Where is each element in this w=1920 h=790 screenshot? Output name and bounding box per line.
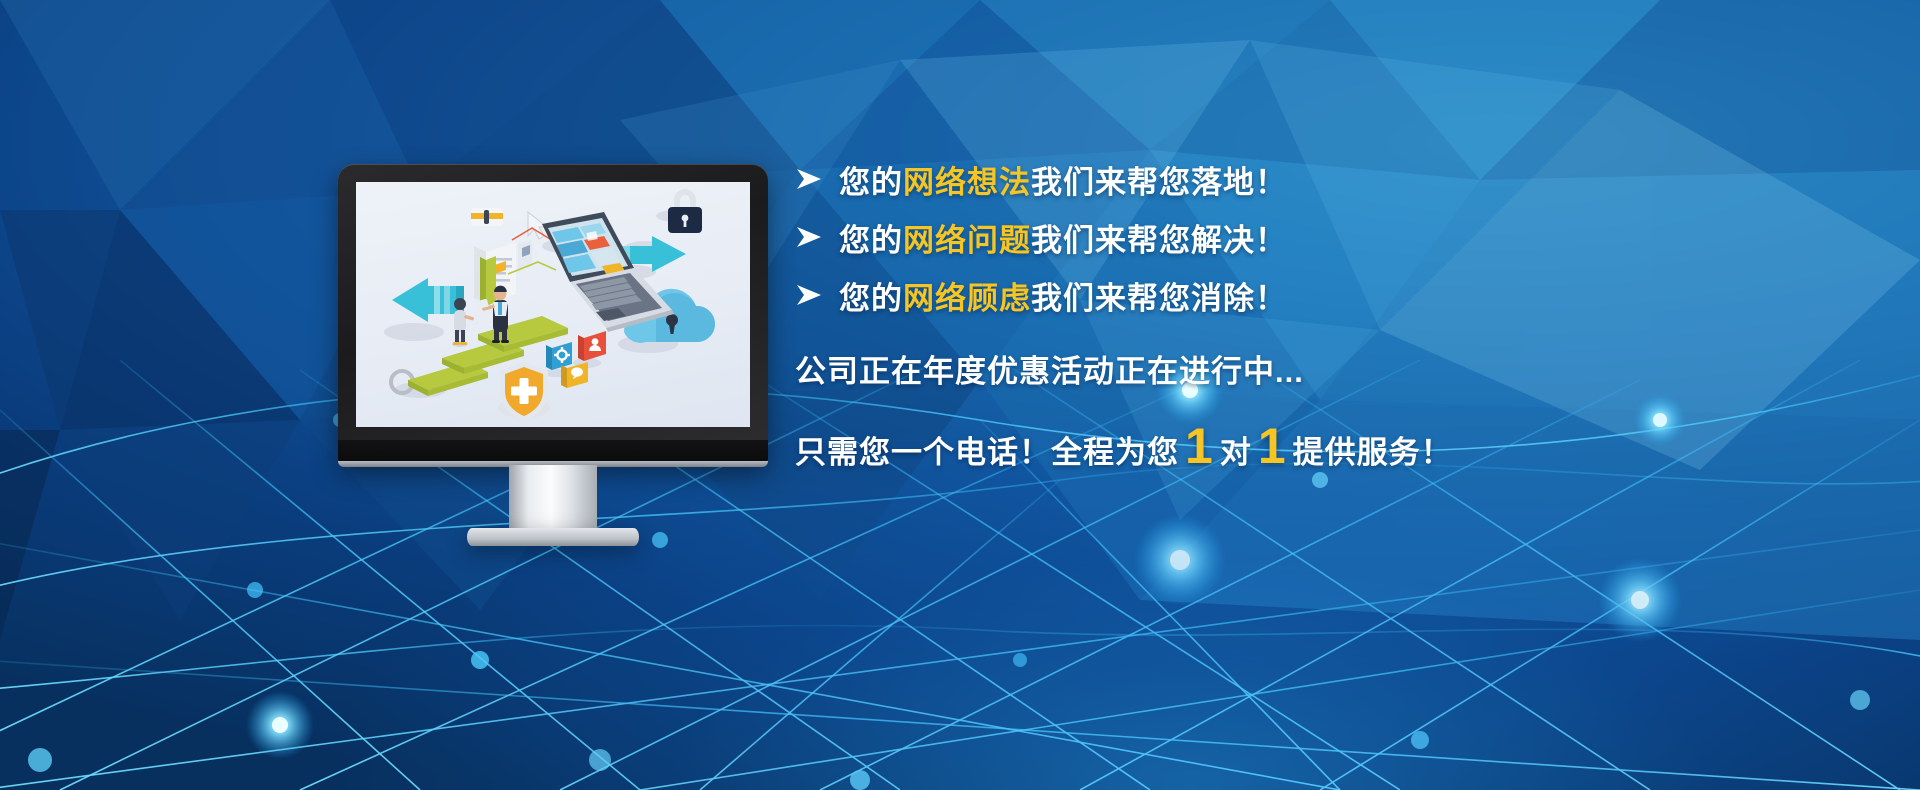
padlock-icon xyxy=(668,189,702,233)
bullet-text-1: 您的网络想法我们来帮您落地！ xyxy=(839,157,1287,202)
bullet-prefix-2: 您的 xyxy=(839,223,903,258)
bullet-text-2: 您的网络问题我们来帮您解决！ xyxy=(839,215,1287,260)
cta-line: 只需您一个电话！全程为您 1 对 1 提供服务！ xyxy=(795,421,1745,472)
isometric-scene xyxy=(356,182,750,427)
cta-number-one: 1 xyxy=(1179,421,1220,471)
bullet-prefix-1: 您的 xyxy=(839,165,903,200)
marketing-copy: 您的网络想法我们来帮您落地！ 您的网络问题我们来帮您解决！ 您的网络顾虑我们来帮… xyxy=(795,150,1745,472)
monitor-stand-foot xyxy=(467,528,639,546)
cta-middle: 对 xyxy=(1220,427,1252,472)
bullet-highlight-3: 网络顾虑 xyxy=(903,281,1031,316)
marker-icon xyxy=(480,256,496,306)
cta-tail: 提供服务！ xyxy=(1293,427,1453,472)
monitor-stand-neck xyxy=(509,465,597,533)
bullet-item-2: 您的网络问题我们来帮您解决！ xyxy=(795,208,1745,266)
bullet-suffix-2: 我们来帮您解决！ xyxy=(1031,223,1287,258)
promo-line: 公司正在年度优惠活动正在进行中... xyxy=(795,346,1745,391)
bullet-highlight-2: 网络问题 xyxy=(903,223,1031,258)
bullet-highlight-1: 网络想法 xyxy=(903,165,1031,200)
bullet-text-3: 您的网络顾虑我们来帮您消除！ xyxy=(839,273,1287,318)
arrow-right-icon xyxy=(795,227,839,247)
arrow-right-icon xyxy=(795,169,839,189)
monitor-screen xyxy=(356,182,750,427)
apple-display-illustration xyxy=(338,164,768,494)
gear-app-icon xyxy=(546,342,572,370)
arrow-right-icon xyxy=(795,285,839,305)
cta-lead: 只需您一个电话！全程为您 xyxy=(795,427,1179,472)
cta-number-two: 1 xyxy=(1252,421,1293,471)
bullet-suffix-1: 我们来帮您落地！ xyxy=(1031,165,1287,200)
bullet-item-3: 您的网络顾虑我们来帮您消除！ xyxy=(795,266,1745,324)
ticket-lock-icon xyxy=(471,208,503,226)
banner-stage: 您的网络想法我们来帮您落地！ 您的网络问题我们来帮您解决！ 您的网络顾虑我们来帮… xyxy=(0,0,1920,790)
bullet-item-1: 您的网络想法我们来帮您落地！ xyxy=(795,150,1745,208)
client-figure xyxy=(452,298,474,347)
bullet-prefix-3: 您的 xyxy=(839,281,903,316)
monitor-bezel xyxy=(338,164,768,464)
user-app-icon xyxy=(578,331,606,361)
shield-plus-icon xyxy=(498,362,550,422)
bullet-suffix-3: 我们来帮您消除！ xyxy=(1031,281,1287,316)
arrow-left-icon xyxy=(392,278,464,322)
